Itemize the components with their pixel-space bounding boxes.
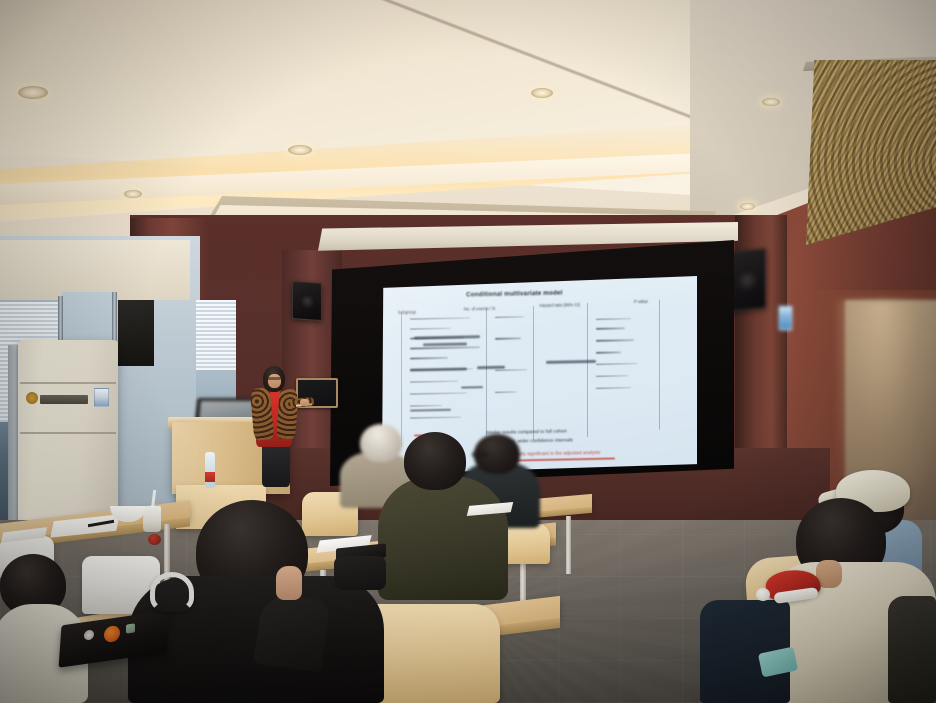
presenter-hand	[300, 399, 309, 406]
recessed-downlight-icon	[18, 86, 48, 99]
attendee-dark-jacket-head	[404, 432, 466, 490]
slide-row	[495, 316, 523, 318]
attendee-glasses-icon	[472, 452, 488, 457]
forest-plot-axis	[587, 303, 588, 438]
slide-column-header: P value	[634, 299, 648, 304]
slide-row	[596, 328, 624, 330]
slide-row	[410, 327, 451, 329]
forest-plot-marker	[546, 360, 596, 364]
slide-row	[596, 318, 631, 320]
speaker-cone-icon	[738, 269, 757, 293]
slide-row	[596, 339, 634, 341]
forest-plot-marker	[461, 386, 483, 389]
recessed-downlight-icon	[288, 145, 312, 155]
recessed-downlight-icon	[124, 190, 142, 198]
headphones	[150, 572, 194, 612]
slide-row	[410, 381, 457, 383]
speaker-cone-icon	[300, 294, 315, 309]
seminar-room-photo: Conditional multivariate model Subgroup …	[0, 0, 936, 703]
slide-row	[596, 375, 628, 377]
santa-hat-pompom	[756, 588, 770, 601]
slide-row	[495, 369, 527, 371]
slide-title: Conditional multivariate model	[451, 289, 577, 299]
slide-row	[410, 405, 442, 407]
forest-plot-axis	[486, 309, 487, 444]
recessed-downlight-icon	[762, 98, 780, 106]
forest-plot-axis	[533, 306, 534, 441]
window-frame-dark	[118, 300, 154, 366]
presenter-legs	[262, 443, 290, 487]
slide-row	[410, 357, 448, 359]
drink-cup	[143, 506, 161, 532]
forest-plot-marker	[423, 343, 467, 346]
bag-under-desk	[334, 556, 386, 590]
window-blind-right[interactable]	[196, 300, 236, 370]
desk-leg	[566, 516, 571, 574]
recessed-downlight-icon	[531, 88, 553, 98]
ac-brand-badge	[26, 392, 38, 404]
attendee-right-far-body	[888, 596, 936, 703]
forest-plot-marker	[410, 408, 451, 411]
blue-wall-sign	[779, 306, 792, 330]
presenter-glasses-icon	[267, 377, 281, 380]
wall-speaker-left-icon	[292, 281, 322, 321]
forest-plot-marker	[414, 336, 480, 340]
ac-unit-seam	[20, 432, 116, 434]
slide-column-header: No. of events / N	[464, 306, 495, 312]
slide-row	[495, 391, 517, 393]
laptop-sticker	[126, 623, 135, 633]
attendee-dark-jacket-body	[378, 476, 508, 600]
slide-row	[410, 346, 479, 349]
recessed-downlight-icon	[740, 203, 755, 210]
slide-row	[596, 363, 637, 365]
slide-row	[410, 317, 470, 320]
forest-plot-marker	[410, 368, 467, 372]
attendee-black-hoodie-hand	[276, 566, 302, 600]
ac-display-panel	[40, 395, 88, 404]
ac-unit-seam	[20, 382, 116, 384]
water-bottle	[205, 452, 215, 488]
slide-row	[495, 338, 520, 340]
attendee-gray-hair-head	[360, 424, 402, 462]
slide-row	[410, 392, 467, 395]
forest-plot-axis	[659, 299, 660, 430]
slide-row	[596, 387, 631, 389]
water-bottle-label	[205, 472, 215, 482]
slide-row	[410, 416, 460, 418]
slide-row	[596, 352, 621, 354]
forest-plot-marker	[477, 366, 505, 369]
slide-column-header: Hazard ratio (95% CI)	[540, 302, 581, 308]
flower-decoration	[148, 534, 161, 545]
presenter-jacket-right	[276, 388, 298, 439]
forest-plot-axis	[401, 312, 402, 447]
ac-label-sticker	[94, 388, 109, 407]
window-blind-header	[0, 240, 190, 300]
